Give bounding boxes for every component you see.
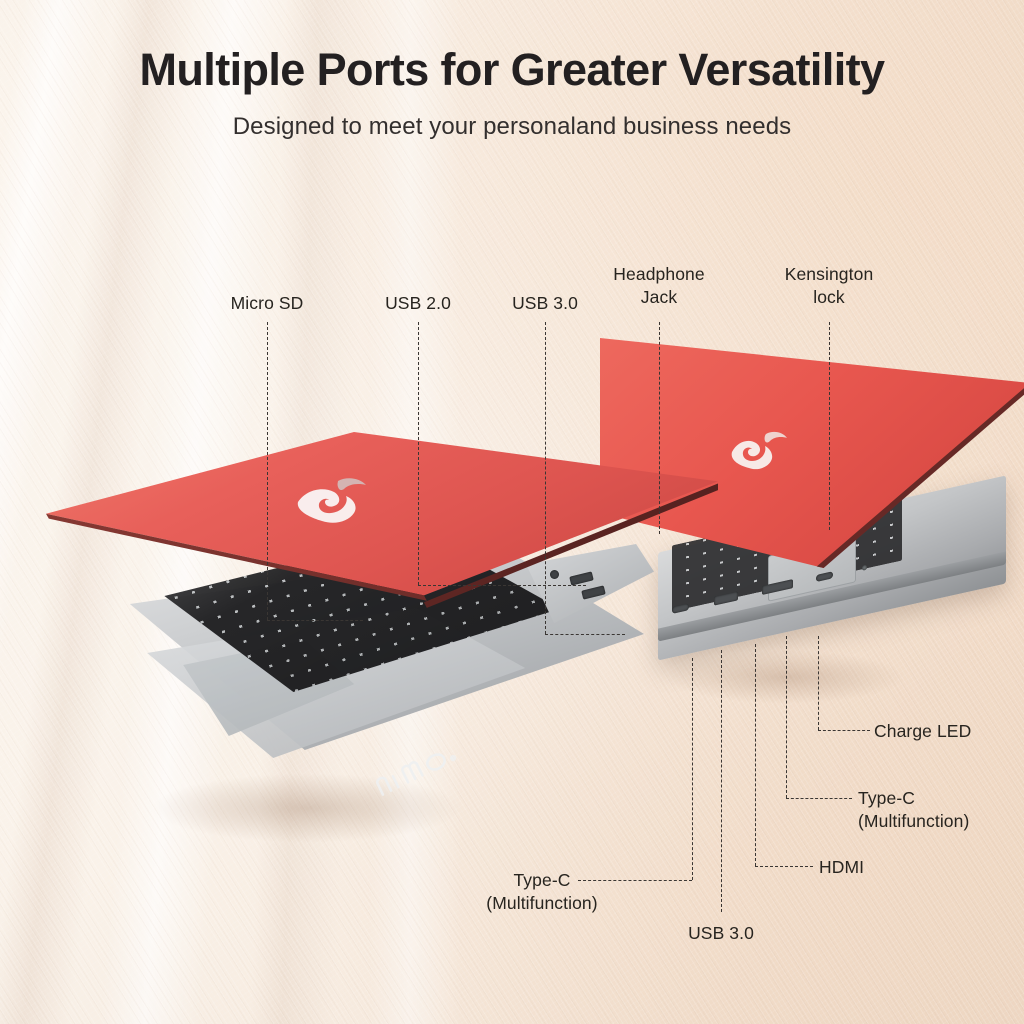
- leader-line-type-c-left-v: [692, 658, 693, 880]
- leader-line-usb-30-top-v: [545, 322, 546, 634]
- brand-logo-mark-front: [294, 472, 380, 524]
- callout-label-headphone-jack: Headphone Jack: [589, 263, 729, 309]
- callout-label-kensington-lock: Kensington lock: [759, 263, 899, 309]
- callout-label-type-c-left: Type-C (Multifunction): [452, 869, 632, 915]
- leader-line-type-c-right-h: [786, 798, 852, 799]
- brand-logo-mark-rear: [726, 426, 800, 472]
- leader-line-micro-sd-v1: [267, 322, 268, 620]
- leader-line-type-c-right-v: [786, 636, 787, 798]
- leader-line-kensington-v: [829, 322, 830, 530]
- page-title: Multiple Ports for Greater Versatility: [0, 44, 1024, 96]
- port-usb-20-front: [581, 585, 605, 599]
- port-hdmi-rear: [762, 579, 793, 595]
- port-type-c-rear-2: [816, 571, 833, 582]
- leader-line-headphone-jack-v: [659, 322, 660, 534]
- leader-line-micro-sd-h: [267, 620, 363, 621]
- leader-line-hdmi-v: [755, 644, 756, 866]
- leader-line-hdmi-h: [755, 866, 813, 867]
- charge-led-indicator: [862, 565, 867, 571]
- leader-line-usb-30-top-h: [545, 634, 625, 635]
- port-kensington-lock: [621, 609, 633, 617]
- callout-label-hdmi: HDMI: [819, 856, 929, 879]
- callout-label-usb-30-bottom: USB 3.0: [651, 922, 791, 945]
- brand-wordmark-nimo: [366, 726, 480, 805]
- callout-label-charge-led: Charge LED: [874, 720, 1024, 743]
- page-subtitle: Designed to meet your personaland busine…: [0, 113, 1024, 141]
- port-micro-sd: [600, 600, 620, 609]
- leader-line-charge-led-h: [818, 730, 870, 731]
- callout-label-micro-sd: Micro SD: [197, 292, 337, 315]
- port-headphone-jack: [550, 570, 559, 579]
- leader-line-usb-30-bottom-v: [721, 650, 722, 912]
- laptop-front-red: [18, 432, 718, 852]
- leader-line-charge-led-v: [818, 636, 819, 730]
- callout-label-usb-20: USB 2.0: [353, 292, 483, 315]
- leader-line-usb-20-h: [418, 585, 586, 586]
- port-usb-30-front: [569, 571, 593, 585]
- leader-line-usb-20-v: [418, 322, 419, 585]
- callout-label-type-c-right: Type-C (Multifunction): [858, 787, 1024, 833]
- product-infographic: Multiple Ports for Greater Versatility D…: [0, 0, 1024, 1024]
